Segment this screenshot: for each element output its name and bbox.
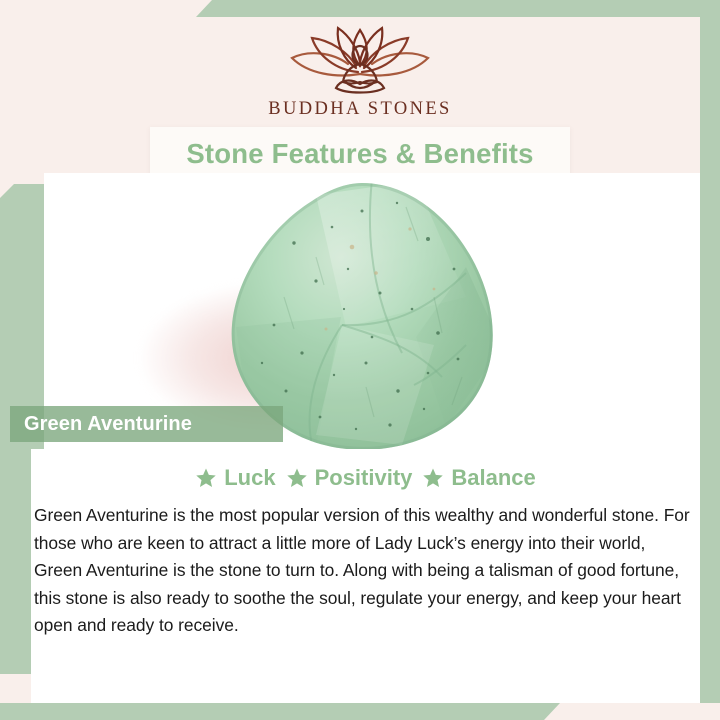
- keyword-item-positivity: Positivity: [286, 465, 413, 491]
- decorative-bar-top: [196, 0, 720, 17]
- keyword-item-balance: Balance: [422, 465, 535, 491]
- brand-logo: BUDDHA STONES: [0, 22, 720, 120]
- keyword-label: Positivity: [315, 465, 413, 491]
- star-icon: [422, 467, 444, 489]
- star-icon: [286, 467, 308, 489]
- description-panel: Luck Positivity Balance Green Aventurine…: [31, 449, 700, 703]
- stone-name-badge: Green Aventurine: [10, 406, 283, 442]
- description-body: Green Aventurine is the most popular ver…: [34, 502, 695, 640]
- lotus-meditating-figure-icon: [274, 22, 446, 96]
- star-icon: [195, 467, 217, 489]
- brand-name: BUDDHA STONES: [268, 99, 452, 120]
- keyword-list: Luck Positivity Balance: [31, 465, 700, 491]
- page-title: Stone Features & Benefits: [186, 138, 533, 170]
- keyword-label: Balance: [451, 465, 535, 491]
- decorative-bar-bottom: [0, 703, 560, 720]
- keyword-label: Luck: [224, 465, 275, 491]
- infographic-page: BUDDHA STONES Stone Features & Benefits: [0, 0, 720, 720]
- stone-name-label: Green Aventurine: [10, 413, 192, 436]
- keyword-item-luck: Luck: [195, 465, 275, 491]
